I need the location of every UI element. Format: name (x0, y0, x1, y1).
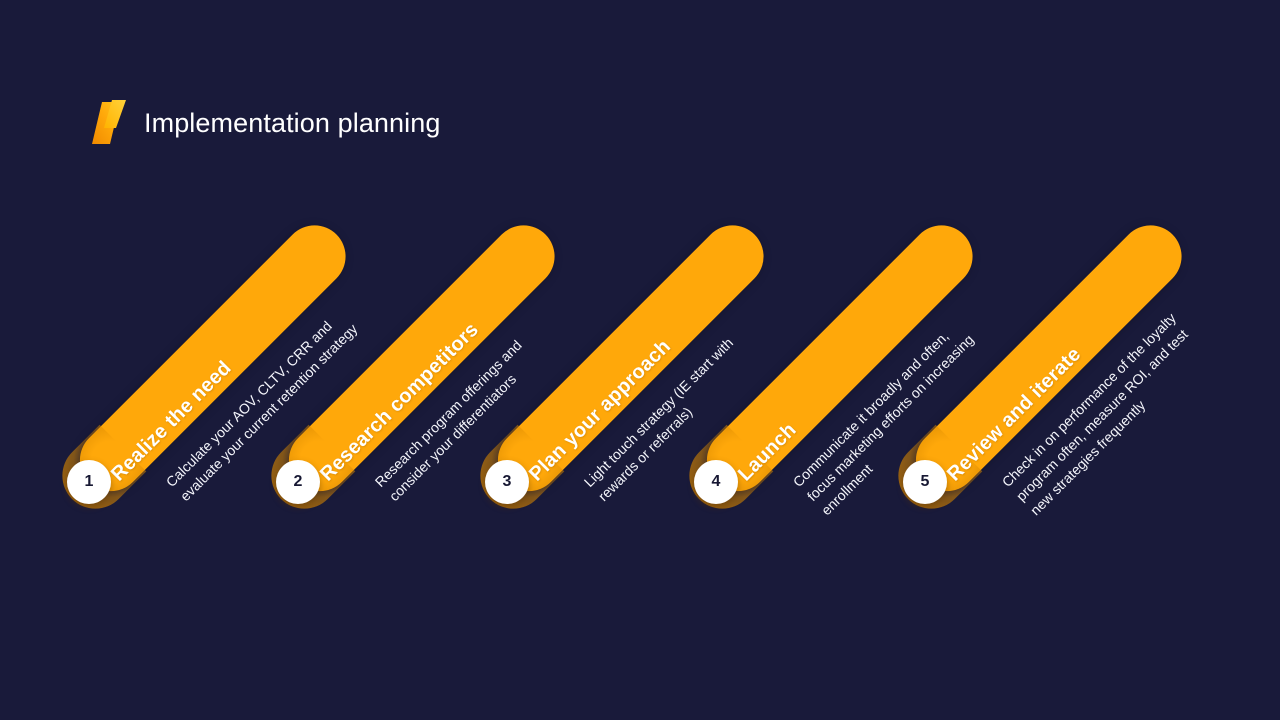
step-number-5: 5 (921, 474, 930, 490)
step-number-badge-3[interactable]: 3 (485, 460, 529, 504)
step-number-badge-2[interactable]: 2 (276, 460, 320, 504)
step-number-badge-4[interactable]: 4 (694, 460, 738, 504)
step-number-4: 4 (712, 474, 721, 490)
step-number-badge-1[interactable]: 1 (67, 460, 111, 504)
slide-canvas: Implementation planning Realize the need… (0, 0, 1280, 720)
step-number-1: 1 (85, 474, 94, 490)
step-number-2: 2 (294, 474, 303, 490)
step-number-3: 3 (503, 474, 512, 490)
page-title: Implementation planning (144, 110, 441, 137)
step-number-badge-5[interactable]: 5 (903, 460, 947, 504)
lightning-bolt-logo-icon (86, 94, 134, 152)
slide-header: Implementation planning (86, 92, 441, 154)
